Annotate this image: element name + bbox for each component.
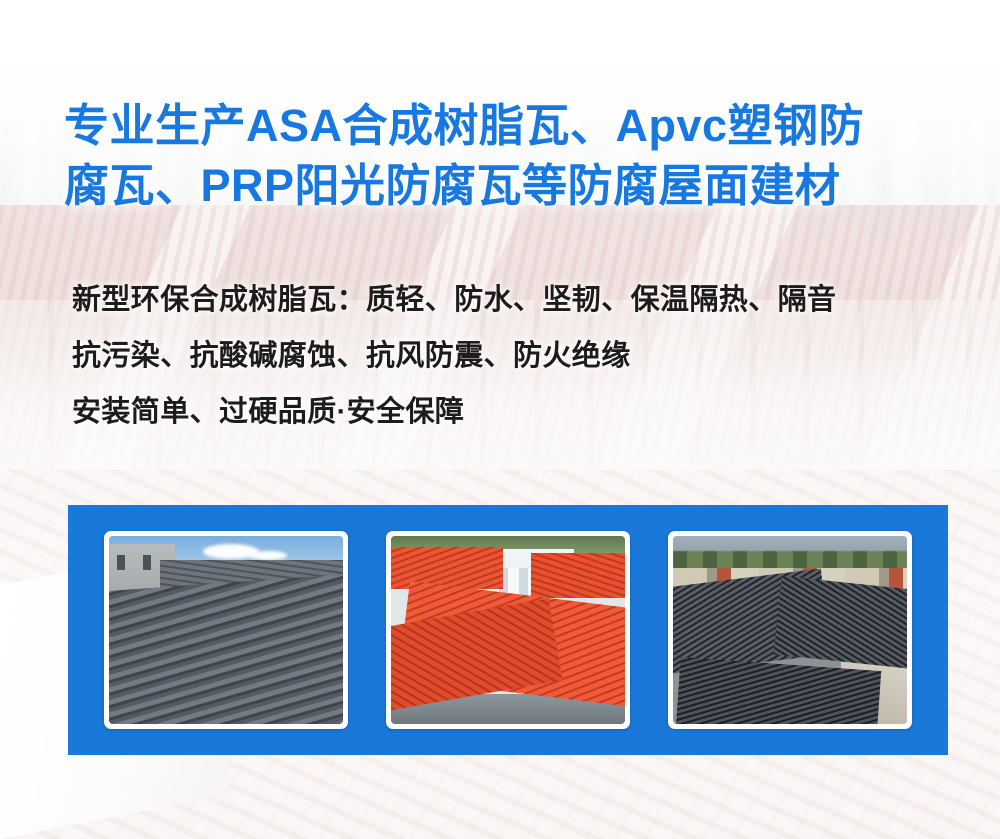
- feature-line-3: 安装简单、过硬品质·安全保障: [72, 384, 962, 440]
- gray-resin-tile-roof-closeup-image: [109, 536, 343, 724]
- headline-line-1: 专业生产ASA合成树脂瓦、Apvc塑钢防: [64, 96, 954, 156]
- headline-line-2: 腐瓦、PRP阳光防腐瓦等防腐屋面建材: [64, 156, 954, 216]
- feature-line-1: 新型环保合成树脂瓦：质轻、防水、坚韧、保温隔热、隔音: [72, 272, 962, 328]
- photo1-main-tile-roof: [109, 574, 343, 724]
- dark-resin-tile-roof-aerial-image: [673, 536, 907, 724]
- photo-frame-3[interactable]: [668, 531, 912, 729]
- photo2-red-roof-right: [531, 553, 625, 598]
- product-banner: 专业生产ASA合成树脂瓦、Apvc塑钢防 腐瓦、PRP阳光防腐瓦等防腐屋面建材 …: [0, 0, 1000, 839]
- photo2-red-roof-left: [391, 547, 503, 588]
- feature-line-2: 抗污染、抗酸碱腐蚀、抗风防震、防火绝缘: [72, 328, 962, 384]
- feature-list: 新型环保合成树脂瓦：质轻、防水、坚韧、保温隔热、隔音 抗污染、抗酸碱腐蚀、抗风防…: [72, 272, 962, 440]
- photo-frame-2[interactable]: [386, 531, 630, 729]
- photo-gallery-panel: [68, 505, 948, 755]
- photo-frame-1[interactable]: [104, 531, 348, 729]
- red-resin-tile-roof-building-image: [391, 536, 625, 724]
- banner-headline: 专业生产ASA合成树脂瓦、Apvc塑钢防 腐瓦、PRP阳光防腐瓦等防腐屋面建材: [64, 96, 954, 216]
